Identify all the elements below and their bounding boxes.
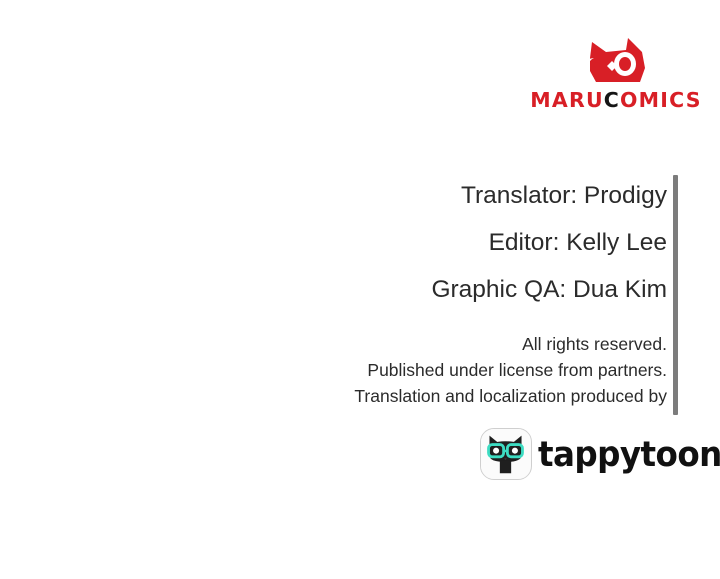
- rights-block: All rights reserved. Published under lic…: [300, 331, 667, 409]
- publisher-wordmark-maru: MARU: [530, 90, 604, 111]
- publisher-wordmark-omics: OMICS: [620, 90, 702, 111]
- publisher-wordmark: MARUCOMICS: [548, 88, 684, 112]
- credits-divider: [673, 175, 678, 415]
- credits-block: Translator: Prodigy Editor: Kelly Lee Gr…: [300, 172, 667, 313]
- rights-line-published-under-license: Published under license from partners.: [300, 357, 667, 383]
- publisher-wordmark-c: C: [604, 90, 620, 111]
- tappytoon-wordmark: tappytoon: [538, 430, 720, 480]
- tappytoon-logo: tappytoon: [480, 428, 676, 482]
- rights-line-translation-produced-by: Translation and localization produced by: [300, 383, 667, 409]
- rights-line-all-rights-reserved: All rights reserved.: [300, 331, 667, 357]
- credit-line-editor: Editor: Kelly Lee: [300, 219, 667, 266]
- comic-credits-page: MARUCOMICS Translator: Prodigy Editor: K…: [0, 0, 720, 579]
- credit-line-graphic-qa: Graphic QA: Dua Kim: [300, 266, 667, 313]
- cat-with-glasses-icon: [480, 428, 532, 480]
- credit-line-translator: Translator: Prodigy: [300, 172, 667, 219]
- publisher-logo: MARUCOMICS: [548, 38, 684, 116]
- owl-icon: [582, 38, 652, 86]
